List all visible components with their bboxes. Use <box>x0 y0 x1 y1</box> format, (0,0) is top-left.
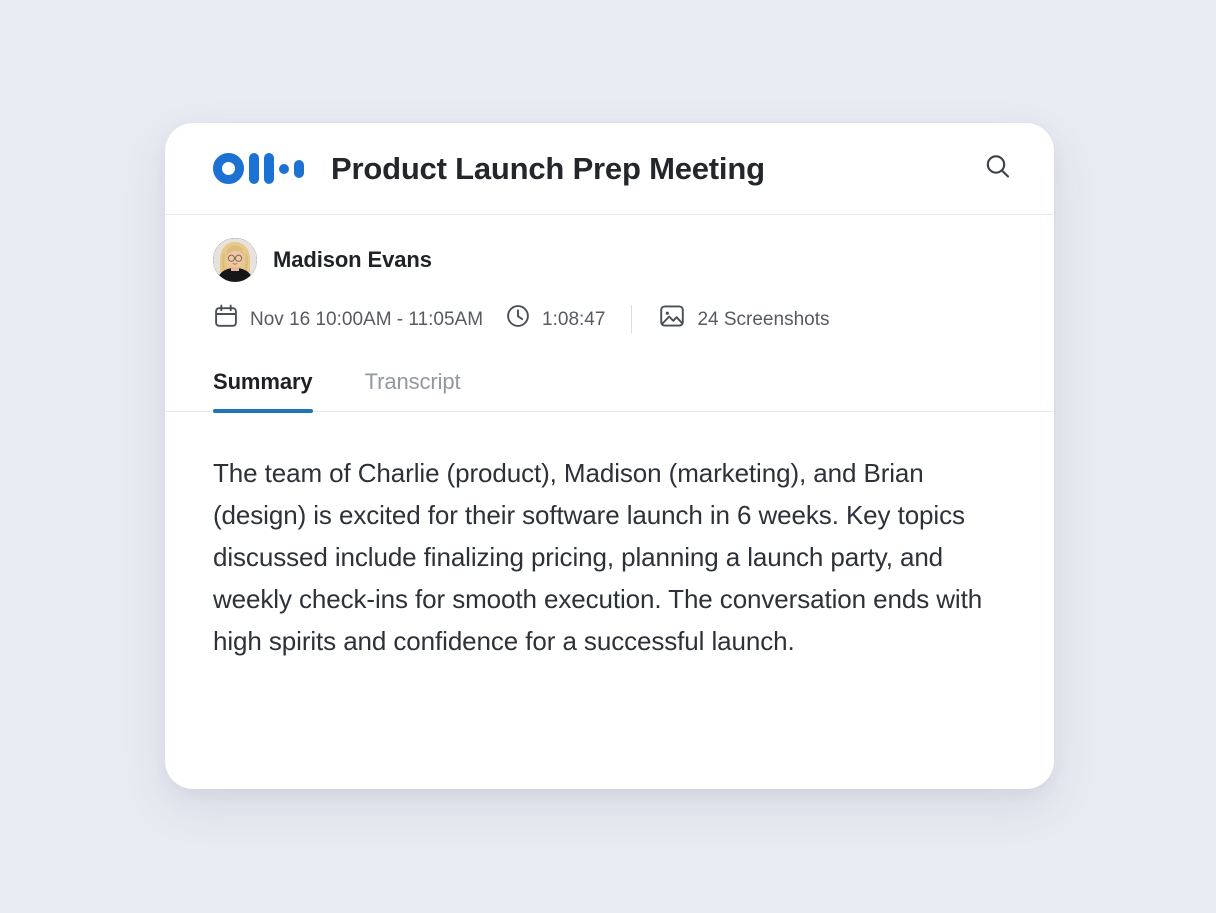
page-canvas: Product Launch Prep Meeting <box>0 0 1216 913</box>
search-button[interactable] <box>976 147 1020 191</box>
logo-ring-shape <box>213 153 244 184</box>
meeting-date-text: Nov 16 10:00AM - 11:05AM <box>250 310 483 329</box>
calendar-icon <box>213 303 239 335</box>
meeting-meta-row: Nov 16 10:00AM - 11:05AM 1:08:47 <box>213 302 1006 336</box>
card-body: Madison Evans Nov 16 10:00AM - 11:05AM <box>165 215 1054 662</box>
logo-dot <box>279 164 289 174</box>
avatar[interactable] <box>213 238 257 282</box>
meta-screenshots-item[interactable]: 24 Screenshots <box>658 302 829 336</box>
speaker-name: Madison Evans <box>273 247 432 273</box>
search-icon <box>983 152 1013 185</box>
screenshot-count-text: 24 Screenshots <box>697 310 829 329</box>
meeting-card: Product Launch Prep Meeting <box>165 123 1054 789</box>
tab-bar: Summary Transcript <box>165 369 1054 412</box>
meta-date-item: Nov 16 10:00AM - 11:05AM <box>213 303 483 335</box>
image-icon <box>658 302 686 336</box>
speaker-row: Madison Evans <box>213 215 1006 282</box>
logo-bar-2 <box>264 153 274 184</box>
logo-bar-1 <box>249 153 259 184</box>
meeting-duration-text: 1:08:47 <box>542 310 605 329</box>
meta-divider <box>631 305 632 333</box>
meta-duration-item: 1:08:47 <box>505 303 605 335</box>
logo-bar-3 <box>294 160 304 178</box>
summary-text: The team of Charlie (product), Madison (… <box>213 452 1003 662</box>
card-header: Product Launch Prep Meeting <box>165 123 1054 215</box>
clock-icon <box>505 303 531 335</box>
otter-waveform-logo-icon[interactable] <box>213 153 304 184</box>
tab-summary[interactable]: Summary <box>213 369 313 411</box>
tab-transcript[interactable]: Transcript <box>365 369 461 411</box>
page-title: Product Launch Prep Meeting <box>331 151 976 187</box>
